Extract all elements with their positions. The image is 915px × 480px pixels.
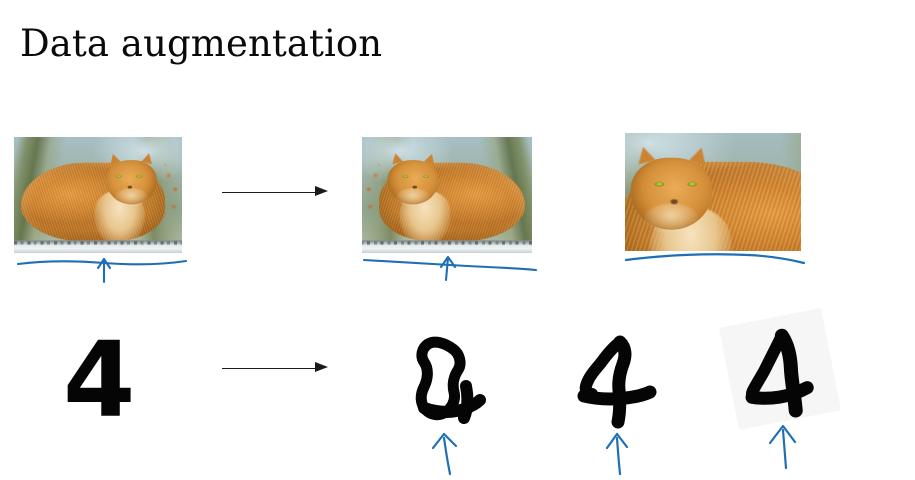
cat-muzzle: [644, 203, 698, 233]
cat-eye-left: [116, 175, 122, 178]
cat-scene-background: [362, 137, 532, 253]
zoomed-cat-photo: [625, 133, 801, 251]
original-digit: 4: [63, 328, 135, 432]
cat-eye-right: [655, 182, 665, 187]
cat-muzzle: [396, 188, 430, 207]
annotation-underline-original: [8, 248, 198, 284]
flipped-cat-photo: [362, 137, 532, 253]
slide-canvas: Data augmentation: [0, 0, 915, 480]
cat-eye-right: [403, 175, 409, 178]
arrow-shaft: [222, 192, 317, 194]
original-cat-photo: [14, 137, 182, 253]
cat-eye-left: [688, 182, 698, 187]
augmentation-arrow-photos: [222, 186, 340, 200]
arrow-shaft: [222, 368, 317, 370]
cat-nose: [127, 186, 131, 189]
cat-eye-right: [136, 175, 142, 178]
cat-muzzle: [115, 188, 149, 207]
annotation-arrow-digit-3: [762, 418, 810, 474]
cat-scene-background: [625, 133, 801, 251]
augmented-digit-elastic: [398, 330, 494, 430]
annotation-underline-flipped: [358, 248, 548, 284]
annotation-arrow-digit-1: [424, 424, 470, 478]
cat-scene-background: [14, 137, 182, 253]
annotation-underline-zoomed: [618, 248, 814, 274]
augmentation-arrow-digits: [222, 362, 340, 376]
annotation-arrow-digit-2: [598, 424, 644, 478]
augmented-digit-warp: [568, 328, 664, 430]
arrow-head-icon: [315, 362, 328, 372]
cat-eye-left: [423, 175, 429, 178]
page-title: Data augmentation: [20, 22, 382, 65]
arrow-head-icon: [315, 186, 328, 196]
